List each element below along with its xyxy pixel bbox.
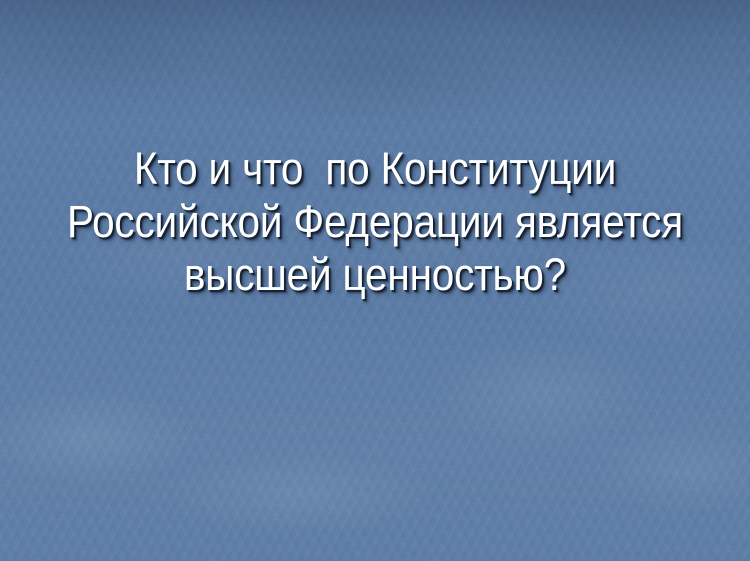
slide-title-line-3: высшей ценностью? <box>50 248 700 301</box>
slide-title-line-1: Кто и что по Конституции <box>50 142 700 195</box>
presentation-slide: Кто и что по Конституции Российской Феде… <box>0 0 750 561</box>
slide-title: Кто и что по Конституции Российской Феде… <box>0 142 750 301</box>
slide-title-line-2: Российской Федерации является <box>50 195 700 248</box>
